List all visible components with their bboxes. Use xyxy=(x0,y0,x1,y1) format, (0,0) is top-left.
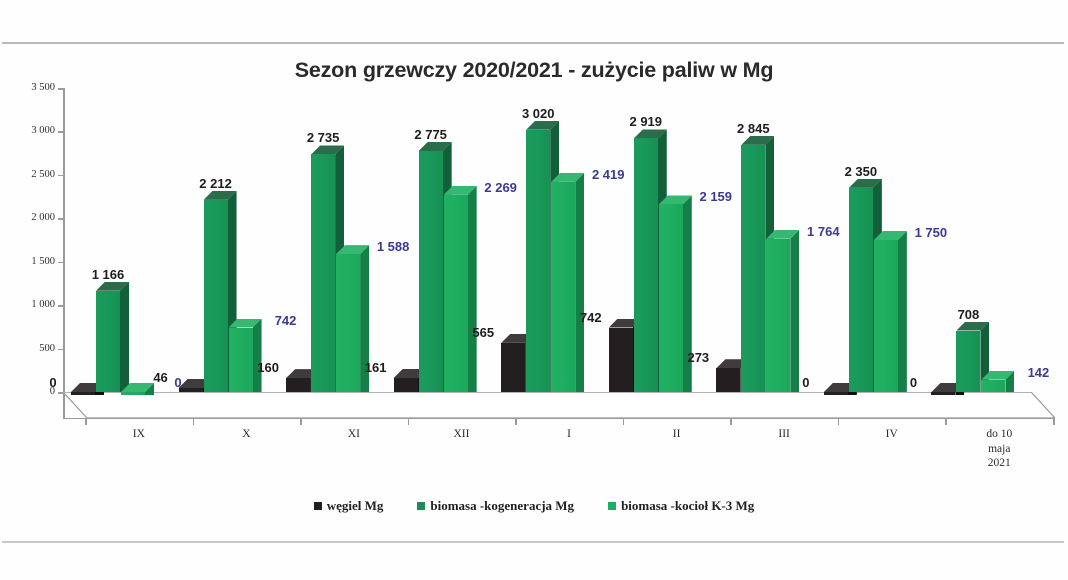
x-axis-tick-mark xyxy=(85,418,87,425)
x-axis-category-label: IV xyxy=(838,427,946,442)
x-axis-tick-mark xyxy=(730,418,732,425)
data-label: 160 xyxy=(240,361,296,374)
x-axis-tick-mark xyxy=(945,418,947,425)
x-axis-tick-mark xyxy=(193,418,195,425)
y-axis-tick-mark xyxy=(58,349,64,351)
bar-front-face xyxy=(71,392,95,395)
y-axis-tick-label: 3 000 xyxy=(10,126,55,136)
bar-front-face xyxy=(849,188,873,392)
bar-front-face xyxy=(741,145,765,392)
bar-front-face xyxy=(311,154,335,392)
legend-swatch-icon xyxy=(608,502,616,510)
bar-front-face xyxy=(824,392,848,395)
bar-side-face xyxy=(253,319,262,392)
legend-swatch-icon xyxy=(314,502,322,510)
data-label: 2 419 xyxy=(580,168,636,181)
x-axis-category-label: XII xyxy=(408,427,516,442)
x-axis-tick-mark xyxy=(515,418,517,425)
data-label: 1 764 xyxy=(795,225,851,238)
data-label: 142 xyxy=(1010,366,1066,379)
legend-label: biomasa -kogeneracja Mg xyxy=(430,498,574,514)
bar-III-series-1 xyxy=(716,368,740,392)
bar-II-series-1 xyxy=(609,328,633,392)
data-label: 0 xyxy=(25,376,81,389)
bar-front-face xyxy=(204,200,228,392)
bar-side-face xyxy=(575,173,584,392)
data-label: 2 735 xyxy=(295,131,351,144)
data-label: 2 350 xyxy=(833,165,889,178)
bar-front-face xyxy=(121,392,145,395)
bar-side-face xyxy=(468,186,477,392)
bar-front-face xyxy=(419,151,443,392)
x-axis-line xyxy=(63,418,1055,420)
legend-item-2[interactable]: biomasa -kogeneracja Mg xyxy=(417,498,574,514)
x-axis-category-label: II xyxy=(623,427,731,442)
x-axis-tick-mark xyxy=(300,418,302,425)
bar-front-face xyxy=(766,239,790,392)
data-label: 742 xyxy=(563,311,619,324)
bar-II-series-2 xyxy=(634,138,658,392)
x-axis-category-label: III xyxy=(730,427,838,442)
data-label: 46 xyxy=(133,371,189,384)
bar-front-face xyxy=(444,195,468,392)
bar-front-face xyxy=(526,130,550,392)
bar-XII-series-2 xyxy=(419,151,443,392)
data-label: 3 020 xyxy=(510,107,566,120)
bar-front-face xyxy=(716,368,740,392)
data-label: 0 xyxy=(778,376,834,389)
y-axis-tick-mark xyxy=(58,131,64,133)
data-label: 2 159 xyxy=(688,190,744,203)
x-axis-category-label: do 10 maja 2021 xyxy=(945,427,1053,471)
bar-front-face xyxy=(874,240,898,392)
bar-X-series-3 xyxy=(229,328,253,392)
y-axis-tick-label: 2 000 xyxy=(10,213,55,223)
y-axis-tick-mark xyxy=(58,88,64,90)
legend-item-1[interactable]: węgiel Mg xyxy=(314,498,384,514)
bar-front-face xyxy=(394,378,418,392)
y-axis-tick-label: 500 xyxy=(10,344,55,354)
bar-do 10-series-2 xyxy=(956,331,980,392)
chart-plot-area: 3 5003 0002 5002 0001 5001 0005000 01 16… xyxy=(0,0,1068,580)
bar-XII-series-1 xyxy=(394,378,418,392)
data-label: 2 775 xyxy=(403,128,459,141)
chart-legend: węgiel Mgbiomasa -kogeneracja Mgbiomasa … xyxy=(0,498,1068,514)
bar-front-face xyxy=(551,182,575,392)
legend-swatch-icon xyxy=(417,502,425,510)
bar-front-face xyxy=(286,378,310,392)
data-label: 1 750 xyxy=(903,226,959,239)
bar-front-face xyxy=(501,343,525,392)
page-bottom-rule xyxy=(2,541,1064,543)
x-axis-category-label: XI xyxy=(300,427,408,442)
x-axis-tick-mark xyxy=(408,418,410,425)
data-label: 273 xyxy=(670,351,726,364)
bar-front-face xyxy=(609,328,633,392)
bar-X-series-2 xyxy=(204,200,228,392)
data-label: 708 xyxy=(940,308,996,321)
bar-front-face xyxy=(96,291,120,392)
chart-floor xyxy=(63,392,1055,418)
bar-I-series-3 xyxy=(551,182,575,392)
legend-label: biomasa -kocioł K-3 Mg xyxy=(621,498,754,514)
bar-III-series-2 xyxy=(741,145,765,392)
y-axis-tick-label: 1 000 xyxy=(10,300,55,310)
bar-IX-series-2 xyxy=(96,291,120,392)
legend-item-3[interactable]: biomasa -kocioł K-3 Mg xyxy=(608,498,754,514)
bar-front-face xyxy=(981,380,1005,392)
bar-side-face xyxy=(790,230,799,392)
bar-IV-series-2 xyxy=(849,188,873,392)
x-axis-tick-mark xyxy=(838,418,840,425)
bar-XII-series-3 xyxy=(444,195,468,392)
bar-side-face xyxy=(898,231,907,392)
data-label: 742 xyxy=(258,314,314,327)
bar-IX-series-3 xyxy=(121,392,145,395)
x-axis-category-label: X xyxy=(193,427,301,442)
bar-side-face xyxy=(120,282,129,392)
x-axis-category-label: I xyxy=(515,427,623,442)
y-axis-tick-label: 1 500 xyxy=(10,257,55,267)
data-label: 2 919 xyxy=(618,115,674,128)
y-axis-tick-label: 3 500 xyxy=(10,83,55,93)
bar-front-face xyxy=(956,331,980,392)
y-axis-tick-mark xyxy=(58,218,64,220)
page-canvas: Sezon grzewczy 2020/2021 - zużycie paliw… xyxy=(0,0,1068,580)
data-label: 0 xyxy=(885,376,941,389)
bar-do 10-series-3 xyxy=(981,380,1005,392)
data-label: 2 269 xyxy=(473,181,529,194)
y-axis-tick-mark xyxy=(58,175,64,177)
bar-I-series-2 xyxy=(526,130,550,392)
bar-front-face xyxy=(229,328,253,392)
bar-front-face xyxy=(634,138,658,392)
bar-XI-series-2 xyxy=(311,154,335,392)
bar-do 10-series-1 xyxy=(931,392,955,395)
legend-label: węgiel Mg xyxy=(327,498,384,514)
y-axis-tick-mark xyxy=(58,262,64,264)
bar-XI-series-1 xyxy=(286,378,310,392)
y-axis-tick-mark xyxy=(58,305,64,307)
data-label: 565 xyxy=(455,326,511,339)
x-axis-category-label: IX xyxy=(85,427,193,442)
bar-front-face xyxy=(931,392,955,395)
bar-III-series-3 xyxy=(766,239,790,392)
bar-IX-series-1 xyxy=(71,392,95,395)
y-axis-line xyxy=(63,88,65,418)
x-axis-tick-mark xyxy=(1053,418,1055,425)
bar-IV-series-3 xyxy=(874,240,898,392)
x-axis-tick-mark xyxy=(623,418,625,425)
y-axis-tick-label: 2 500 xyxy=(10,170,55,180)
data-label: 1 166 xyxy=(80,268,136,281)
data-label: 2 845 xyxy=(725,122,781,135)
bar-IV-series-1 xyxy=(824,392,848,395)
bar-I-series-1 xyxy=(501,343,525,392)
data-label: 1 588 xyxy=(365,240,421,253)
data-label: 2 212 xyxy=(188,177,244,190)
data-label: 161 xyxy=(348,361,404,374)
